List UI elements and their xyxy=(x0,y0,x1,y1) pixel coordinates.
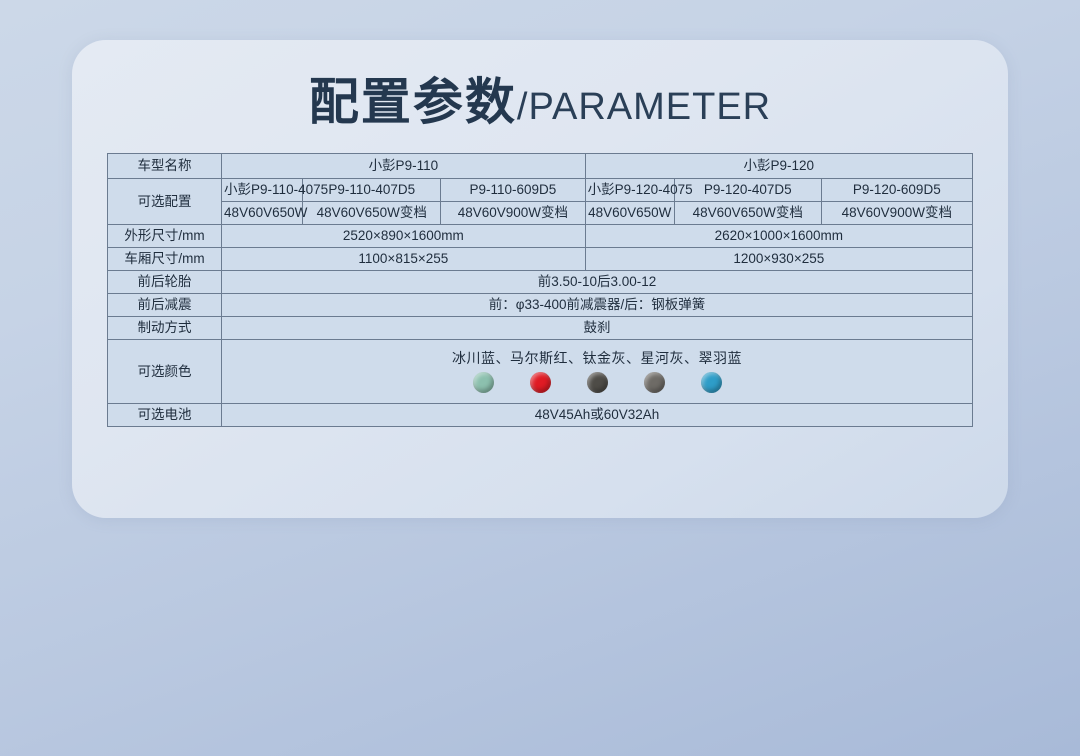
page-title-cn: 配置参数 xyxy=(309,74,517,130)
cell-brake-value: 鼓刹 xyxy=(222,317,973,340)
table-row-tires: 前后轮胎 前3.50-10后3.00-12 xyxy=(108,271,973,294)
cell-config-spec-6: 48V60V900W变档 xyxy=(821,202,972,225)
color-swatch-list xyxy=(224,372,970,393)
parameter-page: 配置参数/PARAMETER 车型名称 小彭P9-110 小彭P9-120 可选… xyxy=(0,0,1080,756)
cell-overall-a: 2520×890×1600mm xyxy=(222,225,586,248)
cell-colors: 冰川蓝、马尔斯红、钛金灰、星河灰、翠羽蓝 xyxy=(222,340,973,404)
row-label-colors: 可选颜色 xyxy=(108,340,222,404)
cell-config-code-6: P9-120-609D5 xyxy=(821,179,972,202)
cell-overall-b: 2620×1000×1600mm xyxy=(585,225,972,248)
cell-config-code-3: P9-110-609D5 xyxy=(441,179,586,202)
color-swatch-galaxy-gray[interactable] xyxy=(644,372,665,393)
table-row-overall-size: 外形尺寸/mm 2520×890×1600mm 2620×1000×1600mm xyxy=(108,225,973,248)
table-row-suspension: 前后减震 前：φ33-400前减震器/后：钢板弹簧 xyxy=(108,294,973,317)
table-row-brake: 制动方式 鼓刹 xyxy=(108,317,973,340)
table-row-cargo-size: 车厢尺寸/mm 1100×815×255 1200×930×255 xyxy=(108,248,973,271)
color-names-text: 冰川蓝、马尔斯红、钛金灰、星河灰、翠羽蓝 xyxy=(224,350,970,366)
page-title: 配置参数/PARAMETER xyxy=(0,62,1080,134)
cell-model-a: 小彭P9-110 xyxy=(222,154,586,179)
color-swatch-glacier-blue[interactable] xyxy=(473,372,494,393)
cell-cargo-b: 1200×930×255 xyxy=(585,248,972,271)
row-label-brake: 制动方式 xyxy=(108,317,222,340)
cell-config-code-5: P9-120-407D5 xyxy=(674,179,821,202)
row-label-model-name: 车型名称 xyxy=(108,154,222,179)
cell-config-spec-4: 48V60V650W xyxy=(585,202,674,225)
table-row-config-codes: 可选配置 小彭P9-110-4075 P9-110-407D5 P9-110-6… xyxy=(108,179,973,202)
row-label-config: 可选配置 xyxy=(108,179,222,225)
color-swatch-mars-red[interactable] xyxy=(530,372,551,393)
color-swatch-emerald-blue[interactable] xyxy=(701,372,722,393)
cell-config-spec-3: 48V60V900W变档 xyxy=(441,202,586,225)
cell-suspension-value: 前：φ33-400前减震器/后：钢板弹簧 xyxy=(222,294,973,317)
cell-config-code-4: 小彭P9-120-4075 xyxy=(585,179,674,202)
row-label-cargo-size: 车厢尺寸/mm xyxy=(108,248,222,271)
cell-cargo-a: 1100×815×255 xyxy=(222,248,586,271)
cell-config-spec-1: 48V60V650W xyxy=(222,202,303,225)
table-row-config-specs: 48V60V650W 48V60V650W变档 48V60V900W变档 48V… xyxy=(108,202,973,225)
table-row-battery: 可选电池 48V45Ah或60V32Ah xyxy=(108,404,973,427)
row-label-overall-size: 外形尺寸/mm xyxy=(108,225,222,248)
table-row-colors: 可选颜色 冰川蓝、马尔斯红、钛金灰、星河灰、翠羽蓝 xyxy=(108,340,973,404)
table-row-model-name: 车型名称 小彭P9-110 小彭P9-120 xyxy=(108,154,973,179)
cell-config-spec-5: 48V60V650W变档 xyxy=(674,202,821,225)
page-title-en: /PARAMETER xyxy=(517,86,771,128)
cell-model-b: 小彭P9-120 xyxy=(585,154,972,179)
row-label-battery: 可选电池 xyxy=(108,404,222,427)
cell-config-code-1: 小彭P9-110-4075 xyxy=(222,179,303,202)
cell-battery-value: 48V45Ah或60V32Ah xyxy=(222,404,973,427)
cell-tires-value: 前3.50-10后3.00-12 xyxy=(222,271,973,294)
cell-config-spec-2: 48V60V650W变档 xyxy=(303,202,441,225)
row-label-suspension: 前后减震 xyxy=(108,294,222,317)
row-label-tires: 前后轮胎 xyxy=(108,271,222,294)
color-swatch-titanium-gray[interactable] xyxy=(587,372,608,393)
specification-table: 车型名称 小彭P9-110 小彭P9-120 可选配置 小彭P9-110-407… xyxy=(107,153,973,427)
